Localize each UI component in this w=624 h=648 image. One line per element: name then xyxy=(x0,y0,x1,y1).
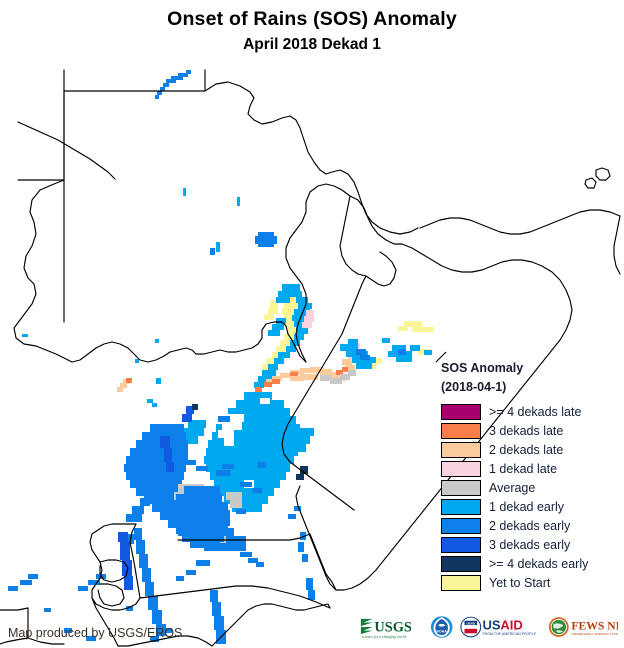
map-page: Onset of Rains (SOS) Anomaly April 2018 … xyxy=(0,0,624,648)
svg-text:science for a changing world: science for a changing world xyxy=(362,635,406,639)
border-uganda-drc xyxy=(90,534,140,610)
raster-1-dekad-early-scatter xyxy=(22,188,240,407)
svg-text:USGS: USGS xyxy=(374,619,412,635)
legend-row: 3 dekads early xyxy=(441,535,616,554)
legend-label: Yet to Start xyxy=(489,576,550,590)
legend-row: 2 dekads late xyxy=(441,440,616,459)
legend-row: 1 dekad late xyxy=(441,459,616,478)
legend-swatch xyxy=(441,423,481,439)
legend-label: 2 dekads late xyxy=(489,443,563,457)
border-angola-stub xyxy=(0,608,28,610)
island-mark-2 xyxy=(585,178,596,188)
legend-swatch xyxy=(441,556,481,572)
border-burundi xyxy=(98,584,124,606)
legend-row: 1 dekad early xyxy=(441,497,616,516)
svg-text:FROM THE AMERICAN PEOPLE: FROM THE AMERICAN PEOPLE xyxy=(483,632,537,636)
legend-swatch xyxy=(441,575,481,591)
fewsnet-logo: FEWS NET FAMINE EARLY WARNING SYSTEMS NE… xyxy=(548,614,618,640)
legend-swatch xyxy=(441,499,481,515)
raster-3-dekads-early xyxy=(155,70,191,99)
coast-arabia-east xyxy=(614,216,620,274)
legend-label: >= 4 dekads late xyxy=(489,405,581,419)
map-credit: Map produced by USGS/EROS xyxy=(8,626,182,640)
coast-somalia-north xyxy=(402,244,572,310)
legend-date: (2018-04-1) xyxy=(441,379,616,395)
usaid-logo: USAID US AID FROM THE AMERICAN PEOPLE xyxy=(460,614,541,640)
title-block: Onset of Rains (SOS) Anomaly April 2018 … xyxy=(0,6,624,56)
legend-row: >= 4 dekads early xyxy=(441,554,616,573)
legend-label: 2 dekads early xyxy=(489,519,570,533)
page-subtitle: April 2018 Dekad 1 xyxy=(0,34,624,56)
legend-label: >= 4 dekads early xyxy=(489,557,588,571)
border-djibouti xyxy=(366,252,396,286)
svg-text:FEWS NET: FEWS NET xyxy=(571,620,618,633)
border-car-ssudan xyxy=(46,342,178,362)
legend-row: >= 4 dekads late xyxy=(441,402,616,421)
logo-strip: USGS science for a changing world NOAA U… xyxy=(360,610,618,644)
border-tanzania-malawi-moz xyxy=(212,604,330,646)
border-uganda-ssudan xyxy=(92,524,136,534)
island-mark-1 xyxy=(596,168,610,180)
legend-swatch xyxy=(441,537,481,553)
border-kenya-tanzania xyxy=(140,586,330,608)
legend-panel: SOS Anomaly (2018-04-1) >= 4 dekads late… xyxy=(441,360,616,592)
border-ethiopia-west xyxy=(306,184,350,202)
legend-swatch xyxy=(441,442,481,458)
border-kenya-somalia xyxy=(310,534,336,590)
svg-text:AID: AID xyxy=(501,618,523,633)
legend-label: Average xyxy=(489,481,535,495)
border-libya-chad-diagonal xyxy=(18,122,115,179)
legend-title: SOS Anomaly xyxy=(441,360,616,376)
legend-swatch xyxy=(441,518,481,534)
svg-text:USAID: USAID xyxy=(467,621,475,625)
svg-text:FAMINE EARLY WARNING SYSTEMS N: FAMINE EARLY WARNING SYSTEMS NETWORK xyxy=(571,632,618,636)
legend-label: 1 dekad early xyxy=(489,500,564,514)
border-sudan-egypt-east xyxy=(205,82,282,124)
raster-ethiopia-lake-tana xyxy=(210,232,277,255)
legend-label: 3 dekads early xyxy=(489,538,570,552)
coast-red-sea-sudan xyxy=(282,116,418,234)
page-title: Onset of Rains (SOS) Anomaly xyxy=(0,6,624,32)
legend-row: 2 dekads early xyxy=(441,516,616,535)
legend-row: 3 dekads late xyxy=(441,421,616,440)
usgs-logo: USGS science for a changing world xyxy=(360,614,423,640)
legend-swatch xyxy=(441,480,481,496)
legend-row: Yet to Start xyxy=(441,573,616,592)
border-eritrea-coast xyxy=(350,196,402,244)
noaa-logo: NOAA xyxy=(430,614,453,640)
border-sudan-chad xyxy=(14,91,64,350)
legend-row: Average xyxy=(441,478,616,497)
legend-swatch xyxy=(441,461,481,477)
anomaly-raster-layer xyxy=(8,70,434,644)
svg-text:US: US xyxy=(483,618,501,633)
legend-label: 3 dekads late xyxy=(489,424,563,438)
border-eritrea-ethiopia xyxy=(340,196,366,276)
legend-swatch xyxy=(441,404,481,420)
svg-text:NOAA: NOAA xyxy=(436,629,447,633)
coast-arabia-south xyxy=(420,210,620,234)
legend-label: 1 dekad late xyxy=(489,462,557,476)
raster-2-dekads-late-rift xyxy=(117,354,356,392)
border-chad-libya-vertical xyxy=(18,91,64,180)
legend-items-list: >= 4 dekads late3 dekads late2 dekads la… xyxy=(441,402,616,592)
